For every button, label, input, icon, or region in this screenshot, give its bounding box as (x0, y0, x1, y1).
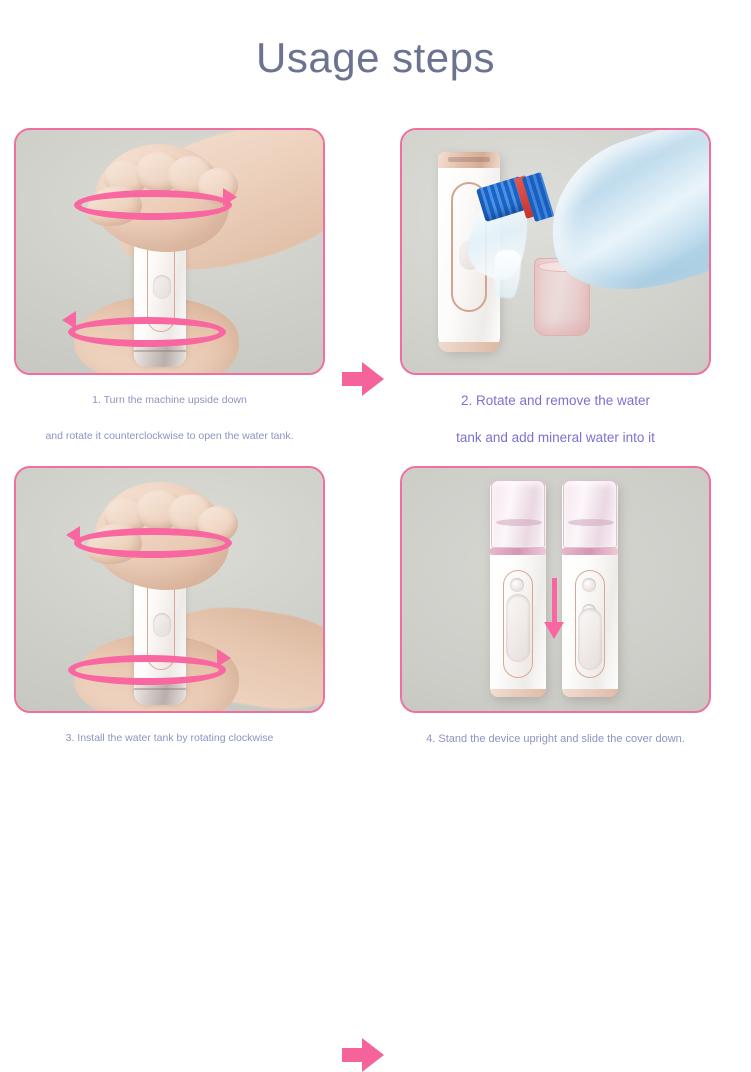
caption-line: 4. Stand the device upright and slide th… (400, 732, 711, 746)
rotation-arrow-icon (68, 655, 226, 685)
caption-line: 1. Turn the machine upside down (14, 394, 325, 408)
step-1-image (14, 128, 325, 375)
device-button (153, 275, 171, 299)
arrow-right-icon (342, 362, 384, 396)
rotation-arrow-icon (74, 190, 232, 220)
device-button-upper (510, 578, 524, 592)
step-3-caption: 3. Install the water tank by rotating cl… (14, 732, 325, 746)
device-base (490, 689, 546, 697)
nano-mister-device-cover-up (490, 482, 546, 697)
caption-line: tank and add mineral water into it (400, 429, 711, 447)
step-3-scene (16, 468, 323, 711)
nano-mister-device-cover-down (562, 482, 618, 697)
device-base (562, 689, 618, 697)
step-4-scene (402, 468, 709, 711)
device-top-cap (438, 152, 500, 168)
device-base (438, 342, 500, 352)
step-4-caption: 4. Stand the device upright and slide th… (400, 732, 711, 746)
rotation-arrow-head-icon (62, 311, 76, 329)
arrow-head (362, 1038, 384, 1072)
device-slider (506, 594, 530, 662)
pink-ring (490, 548, 546, 555)
step-4-image (400, 466, 711, 713)
device-button-upper (582, 578, 596, 592)
device-button (153, 613, 171, 637)
transparent-cover (491, 480, 545, 548)
caption-line: and rotate it counterclockwise to open t… (14, 430, 325, 444)
step-1-scene (16, 130, 323, 373)
page-title: Usage steps (0, 34, 751, 82)
arrow-stem (552, 578, 557, 624)
pink-ring (562, 548, 618, 555)
caption-line: 2. Rotate and remove the water (400, 392, 711, 410)
rotation-arrow-head-icon (223, 188, 237, 206)
step-1-caption: 1. Turn the machine upside down and rota… (14, 394, 325, 443)
step-3-image (14, 466, 325, 713)
rotation-arrow-icon (68, 317, 226, 347)
transparent-cover (563, 480, 617, 548)
step-2-scene (402, 130, 709, 373)
device-slider (578, 608, 602, 670)
arrow-head (544, 622, 564, 639)
rotation-arrow-head-icon (66, 526, 80, 544)
caption-line: 3. Install the water tank by rotating cl… (14, 732, 325, 746)
step-2-image (400, 128, 711, 375)
rotation-arrow-icon (74, 528, 232, 558)
usage-steps-page: Usage steps (0, 0, 751, 789)
arrow-right-icon (342, 1038, 384, 1072)
arrow-head (362, 362, 384, 396)
step-2-caption: 2. Rotate and remove the water tank and … (400, 392, 711, 446)
rotation-arrow-head-icon (217, 649, 231, 667)
